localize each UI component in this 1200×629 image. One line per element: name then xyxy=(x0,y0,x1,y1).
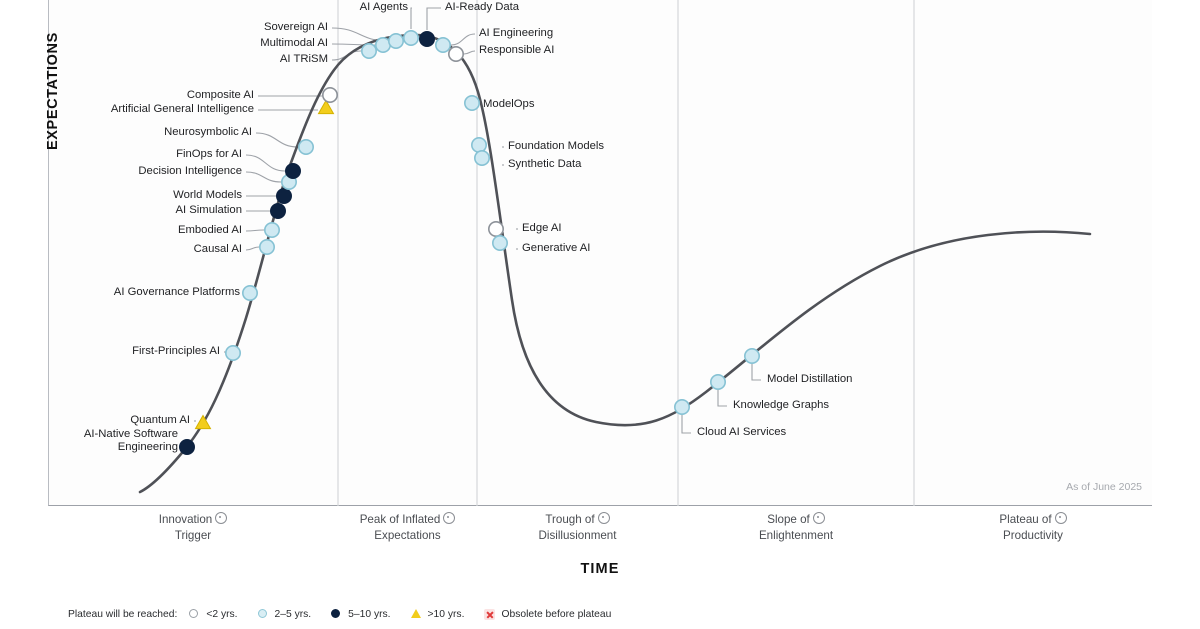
point-label-ai-simulation: AI Simulation xyxy=(110,204,242,217)
point-label-foundation-models: Foundation Models xyxy=(508,140,648,153)
point-label-neurosymbolic-ai: Neurosymbolic AI xyxy=(90,126,252,139)
point-label-knowledge-graphs: Knowledge Graphs xyxy=(733,399,873,412)
phase-caption-1[interactable]: InnovationTrigger xyxy=(103,512,283,543)
legend-item-label: Obsolete before plateau xyxy=(501,609,611,620)
point-label-decision-intelligence: Decision Intelligence xyxy=(90,165,242,178)
point-label-world-models: World Models xyxy=(110,189,242,202)
phase-label-line1: Slope of xyxy=(767,513,810,526)
point-label-generative-ai: Generative AI xyxy=(522,242,632,255)
legend-title: Plateau will be reached: xyxy=(68,609,177,620)
point-label-ai-governance-platforms: AI Governance Platforms xyxy=(60,286,240,299)
point-label-ai-ready-data: AI-Ready Data xyxy=(445,1,555,14)
hype-cycle-chart: EXPECTATIONS As of June 2025 AI-Native S… xyxy=(0,0,1200,629)
phase-label-line2: Expectations xyxy=(318,528,498,544)
phase-caption-2[interactable]: Peak of InflatedExpectations xyxy=(318,512,498,543)
phase-label-line1: Plateau of xyxy=(999,513,1051,526)
point-label-composite-ai: Composite AI xyxy=(120,89,254,102)
legend-item-1: <2 yrs. xyxy=(189,609,237,620)
phase-caption-5[interactable]: Plateau ofProductivity xyxy=(943,512,1123,543)
point-label-modelops: ModelOps xyxy=(483,98,593,111)
phase-label-line1: Innovation xyxy=(159,513,213,526)
legend-item-label: <2 yrs. xyxy=(206,609,237,620)
as-of-note: As of June 2025 xyxy=(1066,481,1142,493)
point-label-responsible-ai: Responsible AI xyxy=(479,44,589,57)
circle-navy-icon xyxy=(331,609,340,618)
legend-item-label: >10 yrs. xyxy=(428,609,465,620)
phase-label-line2: Disillusionment xyxy=(488,528,668,544)
point-label-finops-for-ai: FinOps for AI xyxy=(90,148,242,161)
point-label-sovereign-ai: Sovereign AI xyxy=(200,21,328,34)
y-axis-title: EXPECTATIONS xyxy=(45,0,61,150)
info-icon[interactable] xyxy=(598,512,610,524)
info-icon[interactable] xyxy=(1055,512,1067,524)
circle-lblue-icon xyxy=(258,609,267,618)
legend-item-2: 2–5 yrs. xyxy=(258,609,312,620)
info-icon[interactable] xyxy=(215,512,227,524)
info-icon[interactable] xyxy=(813,512,825,524)
phase-label-line2: Productivity xyxy=(943,528,1123,544)
phase-caption-3[interactable]: Trough ofDisillusionment xyxy=(488,512,668,543)
point-label-model-distillation: Model Distillation xyxy=(767,373,897,386)
point-label-ai-agents: AI Agents xyxy=(336,1,408,14)
point-label-ai-native-software-engineering: AI-Native Software Engineering xyxy=(60,428,178,455)
x-axis-title: TIME xyxy=(0,561,1200,577)
point-label-synthetic-data: Synthetic Data xyxy=(508,158,648,171)
info-icon[interactable] xyxy=(443,512,455,524)
point-label-causal-ai: Causal AI xyxy=(110,243,242,256)
triangle-icon xyxy=(411,609,421,618)
legend-item-5: Obsolete before plateau xyxy=(484,609,611,620)
legend: Plateau will be reached: <2 yrs.2–5 yrs.… xyxy=(68,609,631,620)
phase-label-line1: Trough of xyxy=(545,513,594,526)
legend-item-3: 5–10 yrs. xyxy=(331,609,390,620)
point-label-quantum-ai: Quantum AI xyxy=(60,414,190,427)
point-label-cloud-ai-services: Cloud AI Services xyxy=(697,426,827,439)
phase-label-line1: Peak of Inflated xyxy=(360,513,441,526)
point-label-artificial-general-intelligence: Artificial General Intelligence xyxy=(70,103,254,116)
point-label-edge-ai: Edge AI xyxy=(522,222,632,235)
legend-item-label: 5–10 yrs. xyxy=(348,609,390,620)
legend-item-label: 2–5 yrs. xyxy=(275,609,312,620)
point-label-ai-trism: AI TRiSM xyxy=(200,53,328,66)
phase-caption-4[interactable]: Slope ofEnlightenment xyxy=(706,512,886,543)
point-label-embodied-ai: Embodied AI xyxy=(110,224,242,237)
circle-white-icon xyxy=(189,609,198,618)
point-label-multimodal-ai: Multimodal AI xyxy=(200,37,328,50)
phase-label-line2: Trigger xyxy=(103,528,283,544)
legend-item-4: >10 yrs. xyxy=(411,609,465,620)
point-label-ai-engineering: AI Engineering xyxy=(479,27,589,40)
x-obsolete-icon xyxy=(484,609,495,620)
point-label-first-principles-ai: First-Principles AI xyxy=(60,345,220,358)
phase-label-line2: Enlightenment xyxy=(706,528,886,544)
